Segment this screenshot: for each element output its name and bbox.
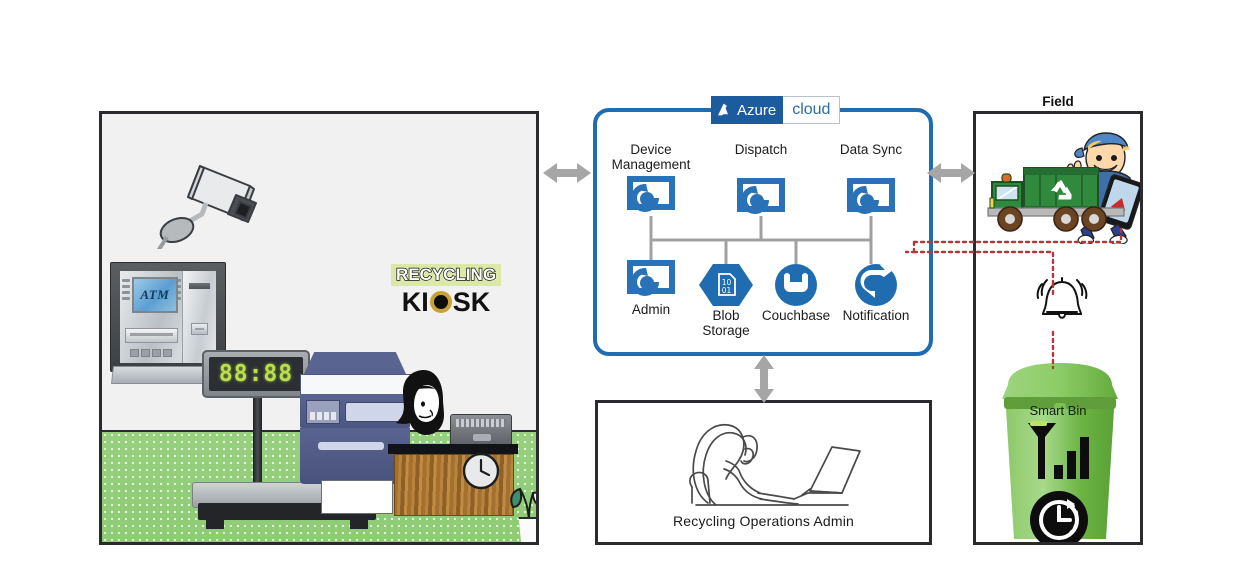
desk-computer-icon — [450, 414, 512, 446]
receptionist-illustration — [394, 366, 458, 452]
azure-cloud-badge: Azure cloud — [711, 96, 839, 124]
service-label-line2: Storage — [686, 323, 766, 338]
service-couchbase[interactable]: Couchbase — [756, 262, 836, 323]
azure-brand: Azure — [711, 96, 783, 124]
service-label-line2: Management — [601, 157, 701, 172]
smart-bin — [992, 359, 1128, 542]
scale-digits: 88:88 — [219, 361, 293, 387]
app-service-icon — [601, 176, 701, 218]
service-label-line1: Couchbase — [756, 308, 836, 323]
connector-cloud-to-admin — [751, 355, 777, 403]
recycling-kiosk-panel: ATM 88:88 — [99, 111, 539, 545]
app-service-icon — [821, 178, 921, 220]
service-label-line1: Admin — [606, 302, 696, 317]
atm-screen-label: ATM — [140, 287, 169, 303]
app-service-icon — [606, 260, 696, 302]
service-blob-storage[interactable]: 10 01 Blob Storage — [686, 262, 766, 338]
sign-kiosk-text: KI SK — [383, 288, 509, 318]
field-panel-title: Field — [973, 94, 1143, 109]
operations-admin-panel: Recycling Operations Admin — [595, 400, 932, 545]
service-label-line1: Dispatch — [711, 142, 811, 157]
sign-kiosk-o-ring — [430, 291, 452, 313]
blob-storage-icon: 10 01 — [686, 262, 766, 308]
service-admin[interactable]: Admin — [606, 260, 696, 317]
diagram-canvas: ATM 88:88 — [0, 0, 1237, 565]
azure-logo-icon — [716, 102, 733, 119]
azure-cloud-panel: Device Management Dispatch — [593, 108, 933, 356]
service-label-line1: Data Sync — [821, 142, 921, 157]
scale-display: 88:88 — [202, 350, 310, 398]
clock-icon — [1028, 489, 1090, 545]
sign-recycling-text: RECYCLING — [391, 264, 501, 286]
couchbase-icon — [756, 262, 836, 308]
signal-strength-icon — [1024, 421, 1096, 490]
cctv-camera-icon — [142, 159, 262, 249]
app-service-icon — [711, 178, 811, 220]
cloud-label: cloud — [792, 101, 830, 119]
potted-plant-icon — [506, 477, 539, 545]
smart-bin-label: Smart Bin — [976, 403, 1140, 418]
connector-cloud-to-field — [927, 160, 975, 186]
connector-kiosk-to-cloud — [543, 160, 591, 186]
service-device-management[interactable]: Device Management — [601, 142, 701, 218]
service-dispatch[interactable]: Dispatch — [711, 142, 811, 220]
svg-text:01: 01 — [722, 286, 732, 295]
service-label-line1: Device — [601, 142, 701, 157]
azure-label: Azure — [737, 102, 776, 119]
sign-kiosk-part-a: KI — [402, 288, 429, 318]
sign-kiosk-part-b: SK — [453, 288, 491, 318]
service-data-sync[interactable]: Data Sync — [821, 142, 921, 220]
admin-caption: Recycling Operations Admin — [598, 513, 929, 529]
connector-notification-routes — [905, 228, 1137, 378]
recycling-kiosk-sign: RECYCLING KI SK — [383, 264, 509, 326]
admin-illustration — [598, 407, 929, 517]
service-label-line1: Blob — [686, 308, 766, 323]
wall-clock-icon — [461, 451, 501, 491]
cloud-chip: cloud — [783, 96, 840, 124]
